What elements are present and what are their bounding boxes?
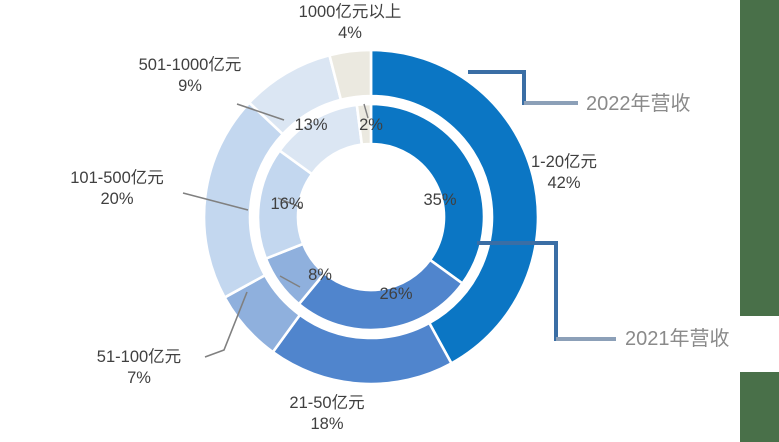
callout-label-2022[interactable]: 2022年营收 bbox=[586, 92, 691, 115]
right-edge-green-bar-top bbox=[740, 0, 779, 316]
outer-label-category-2: 51-100亿元 bbox=[97, 347, 181, 366]
inner-label-percent-2: 8% bbox=[308, 266, 332, 284]
outer-label-percent-1: 18% bbox=[310, 415, 343, 433]
outer-label-category-1: 21-50亿元 bbox=[289, 393, 364, 412]
double-donut-chart: 1-20亿元42%21-50亿元18%51-100亿元7%101-500亿元20… bbox=[0, 0, 779, 442]
outer-label-category-5: 1000亿元以上 bbox=[299, 2, 402, 21]
inner-label-percent-4: 13% bbox=[294, 116, 327, 134]
ring-outer bbox=[204, 50, 538, 384]
inner-label-percent-5: 2% bbox=[359, 116, 383, 134]
right-edge-green-bar-bottom bbox=[740, 372, 779, 442]
inner-label-percent-0: 35% bbox=[423, 191, 456, 209]
callout-label-2021[interactable]: 2021年营收 bbox=[625, 327, 730, 350]
outer-label-category-3: 101-500亿元 bbox=[70, 168, 164, 187]
outer-label-percent-0: 42% bbox=[547, 174, 580, 192]
outer-label-category-4: 501-1000亿元 bbox=[139, 55, 242, 74]
outer-label-percent-4: 9% bbox=[178, 77, 202, 95]
outer-label-percent-3: 20% bbox=[100, 190, 133, 208]
outer-label-percent-2: 7% bbox=[127, 369, 151, 387]
outer-label-category-0: 1-20亿元 bbox=[531, 152, 597, 171]
inner-label-percent-1: 26% bbox=[379, 285, 412, 303]
outer-label-percent-5: 4% bbox=[338, 24, 362, 42]
inner-label-percent-3: 16% bbox=[270, 195, 303, 213]
donut-chart-container: 1-20亿元42%21-50亿元18%51-100亿元7%101-500亿元20… bbox=[0, 0, 779, 442]
ring-inner bbox=[258, 104, 484, 330]
